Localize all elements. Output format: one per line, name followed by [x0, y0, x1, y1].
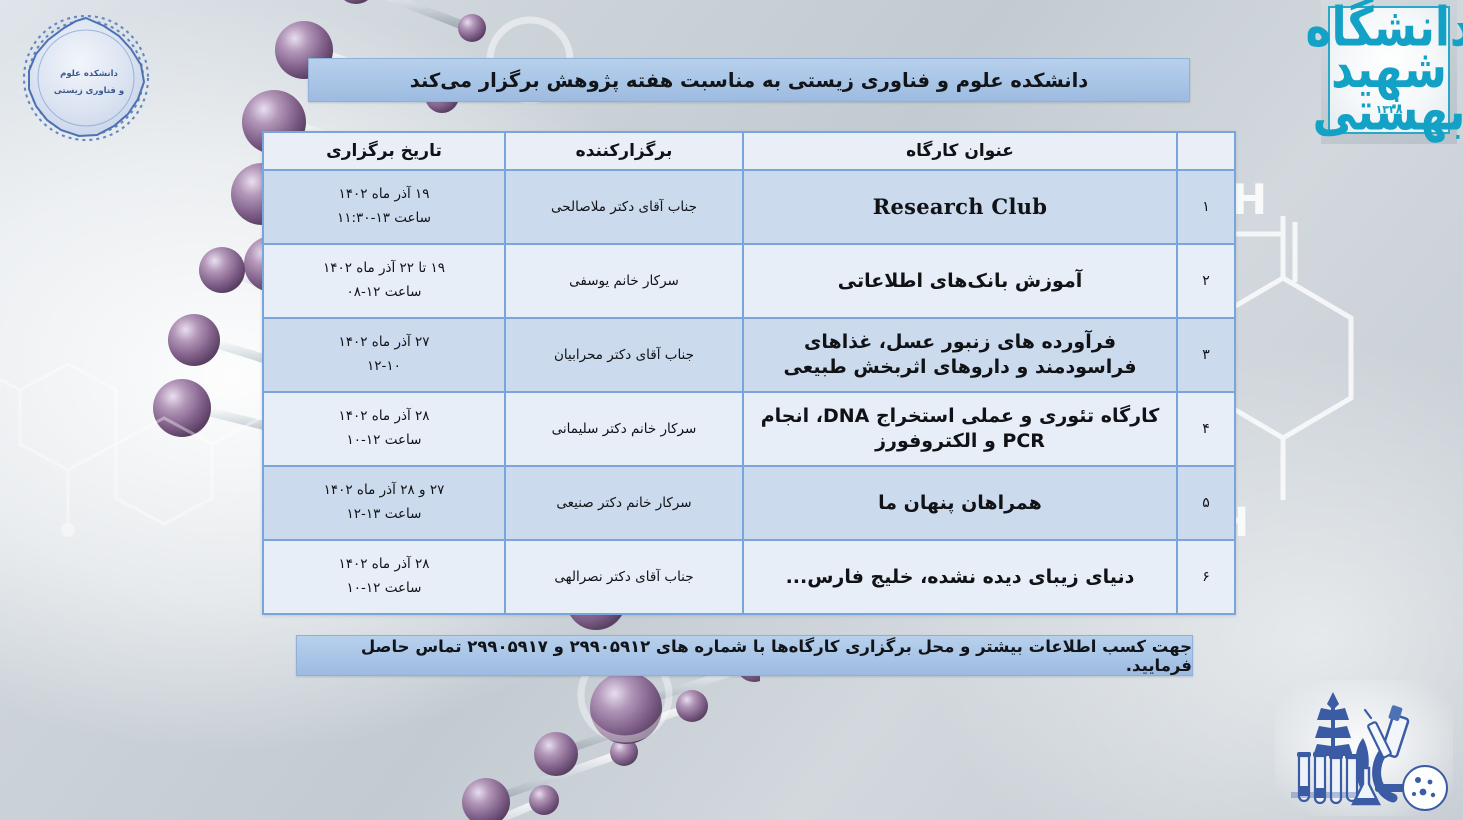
workshop-date-line1: ۲۷ آذر ماه ۱۴۰۲: [270, 331, 498, 355]
table-row: ۲آموزش بانک‌های اطلاعاتیسرکار خانم یوسفی…: [263, 244, 1235, 318]
petri-dish-icon: [1403, 766, 1447, 810]
table-header: عنوان کارگاه برگزارکننده تاریخ برگزاری: [263, 132, 1235, 170]
university-logo: دانشگاهشهیدبهشتی ۱۳۳۸: [1321, 0, 1457, 144]
workshop-title: Research Club: [743, 170, 1177, 244]
row-index: ۶: [1177, 540, 1235, 614]
workshop-date-line2: ساعت ۱۳-۱۱:۳۰: [270, 207, 498, 231]
faculty-seal-text: دانشکده علوم و فناوری زیستی: [13, 12, 165, 152]
table-header-date: تاریخ برگزاری: [263, 132, 505, 170]
workshop-date-line2: ساعت ۱۲-۰۸: [270, 281, 498, 305]
table-row: ۱Research Clubجناب آقای دکتر ملاصالحی۱۹ …: [263, 170, 1235, 244]
row-index: ۲: [1177, 244, 1235, 318]
table-row: ۵همراهان پنهان ماسرکار خانم دکتر صنیعی۲۷…: [263, 466, 1235, 540]
workshop-title: همراهان پنهان ما: [743, 466, 1177, 540]
row-index: ۵: [1177, 466, 1235, 540]
workshop-date-line1: ۱۹ تا ۲۲ آذر ماه ۱۴۰۲: [270, 257, 498, 281]
molecule-network-decoration: [0, 330, 280, 630]
workshop-title: آموزش بانک‌های اطلاعاتی: [743, 244, 1177, 318]
table-row: ۳فرآورده های زنبور عسل، غذاهای فراسودمند…: [263, 318, 1235, 392]
workshop-presenter: جناب آقای دکتر نصرالهی: [505, 540, 743, 614]
row-index: ۱: [1177, 170, 1235, 244]
workshop-presenter: جناب آقای دکتر ملاصالحی: [505, 170, 743, 244]
workshop-title: دنیای زیبای دیده نشده، خلیج فارس...: [743, 540, 1177, 614]
contact-info-banner: جهت کسب اطلاعات بیشتر و محل برگزاری کارگ…: [296, 635, 1193, 676]
workshop-date-line1: ۲۸ آذر ماه ۱۴۰۲: [270, 553, 498, 577]
workshop-title: فرآورده های زنبور عسل، غذاهای فراسودمند …: [743, 318, 1177, 392]
workshop-date: ۱۹ آذر ماه ۱۴۰۲ساعت ۱۳-۱۱:۳۰: [263, 170, 505, 244]
biotech-illustration-logo: [1275, 680, 1453, 816]
table-row: ۶دنیای زیبای دیده نشده، خلیج فارس...جناب…: [263, 540, 1235, 614]
workshop-presenter: سرکار خانم دکتر صنیعی: [505, 466, 743, 540]
faculty-seal-line2: و فناوری زیستی: [54, 86, 124, 96]
table-body: ۱Research Clubجناب آقای دکتر ملاصالحی۱۹ …: [263, 170, 1235, 614]
row-index: ۴: [1177, 392, 1235, 466]
workshop-schedule-table: عنوان کارگاه برگزارکننده تاریخ برگزاری ۱…: [262, 131, 1236, 615]
workshop-date-line2: ساعت ۱۲-۱۰: [270, 577, 498, 601]
university-logo-year: ۱۳۳۸: [1330, 103, 1448, 116]
row-index: ۳: [1177, 318, 1235, 392]
workshop-date-line1: ۱۹ آذر ماه ۱۴۰۲: [270, 183, 498, 207]
workshop-date: ۲۸ آذر ماه ۱۴۰۲ساعت ۱۲-۱۰: [263, 392, 505, 466]
workshop-presenter: سرکار خانم دکتر سلیمانی: [505, 392, 743, 466]
workshop-date-line2: ساعت ۱۳-۱۲: [270, 503, 498, 527]
workshop-date: ۲۸ آذر ماه ۱۴۰۲ساعت ۱۲-۱۰: [263, 540, 505, 614]
workshop-title: کارگاه تئوری و عملی استخراج DNA، انجام P…: [743, 392, 1177, 466]
title-banner: دانشکده علوم و فناوری زیستی به مناسبت هف…: [308, 58, 1190, 102]
workshop-date: ۲۷ آذر ماه ۱۴۰۲۱۲-۱۰: [263, 318, 505, 392]
table-row: ۴کارگاه تئوری و عملی استخراج DNA، انجام …: [263, 392, 1235, 466]
table-header-presenter: برگزارکننده: [505, 132, 743, 170]
workshop-date-line2: ساعت ۱۲-۱۰: [270, 429, 498, 453]
workshop-date-line2: ۱۲-۱۰: [270, 355, 498, 379]
table-header-index: [1177, 132, 1235, 170]
chem-label-h: H: [1232, 175, 1267, 224]
workshop-presenter: سرکار خانم یوسفی: [505, 244, 743, 318]
faculty-seal-line1: دانشکده علوم: [60, 69, 118, 79]
workshop-date-line1: ۲۸ آذر ماه ۱۴۰۲: [270, 405, 498, 429]
workshop-date: ۱۹ تا ۲۲ آذر ماه ۱۴۰۲ساعت ۱۲-۰۸: [263, 244, 505, 318]
workshop-date: ۲۷ و ۲۸ آذر ماه ۱۴۰۲ساعت ۱۳-۱۲: [263, 466, 505, 540]
workshop-presenter: جناب آقای دکتر محرابیان: [505, 318, 743, 392]
university-logo-frame: دانشگاهشهیدبهشتی ۱۳۳۸: [1328, 6, 1450, 134]
table-header-row: عنوان کارگاه برگزارکننده تاریخ برگزاری: [263, 132, 1235, 170]
faculty-seal-logo: دانشکده علوم و فناوری زیستی: [10, 8, 162, 148]
table-header-title: عنوان کارگاه: [743, 132, 1177, 170]
workshop-date-line1: ۲۷ و ۲۸ آذر ماه ۱۴۰۲: [270, 479, 498, 503]
poster-canvas: CH₃ H NH دانشکده علوم: [0, 0, 1463, 820]
